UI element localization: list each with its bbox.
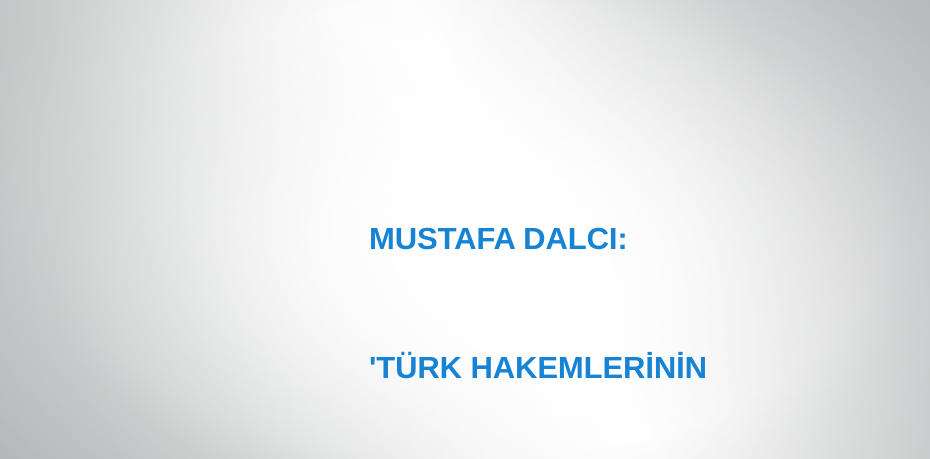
headline-line-1: MUSTAFA DALCI:: [369, 217, 889, 260]
headline-line-2: 'TÜRK HAKEMLERİNİN: [369, 346, 889, 389]
headline-text: MUSTAFA DALCI: 'TÜRK HAKEMLERİNİN YERİND…: [369, 131, 889, 459]
news-headline-card: MUSTAFA DALCI: 'TÜRK HAKEMLERİNİN YERİND…: [0, 0, 930, 459]
